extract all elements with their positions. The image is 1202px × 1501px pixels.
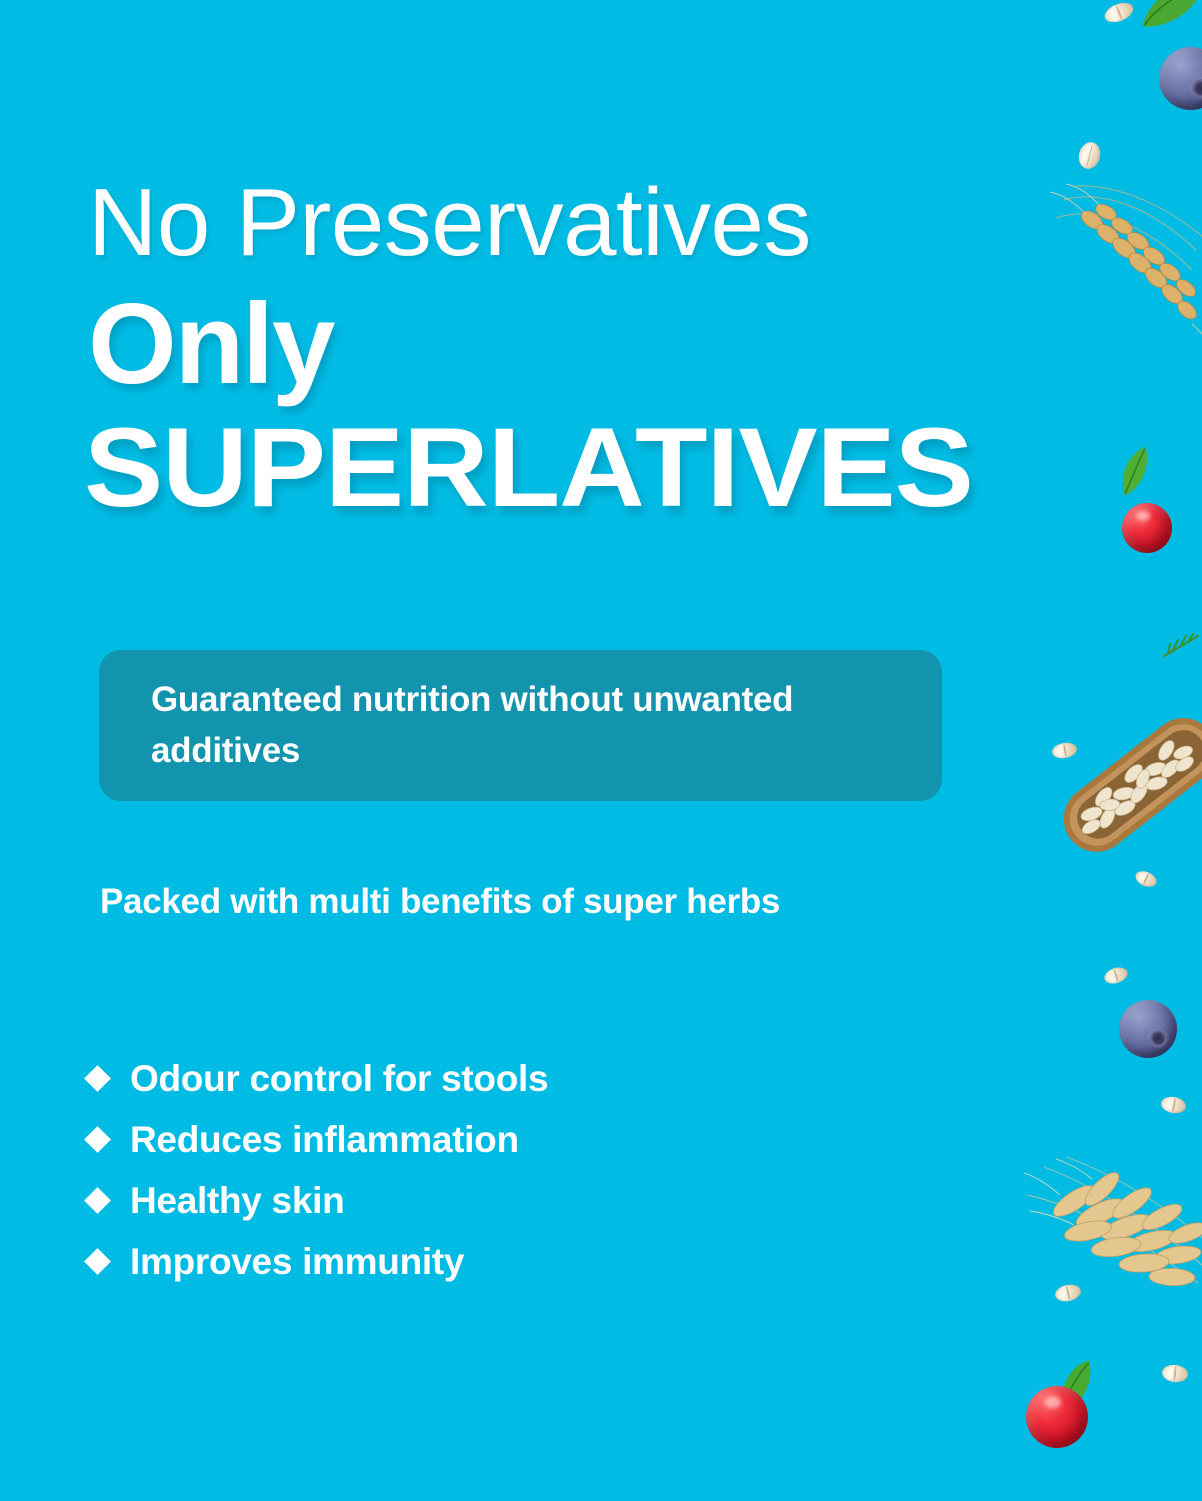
headline-superlatives: SUPERLATIVES (84, 412, 973, 524)
benefits-list: Odour control for stools Reduces inflamm… (88, 1048, 548, 1292)
list-item: Odour control for stools (88, 1048, 548, 1109)
headline-only: Only (88, 288, 333, 402)
poster-content: No Preservatives Only SUPERLATIVES Guara… (0, 0, 1202, 1501)
guarantee-callout-box: Guaranteed nutrition without unwanted ad… (99, 650, 942, 801)
benefits-subheading: Packed with multi benefits of super herb… (100, 876, 780, 929)
list-item-label: Improves immunity (130, 1243, 464, 1280)
list-item-label: Reduces inflammation (130, 1121, 519, 1158)
diamond-bullet-icon (84, 1065, 111, 1092)
promo-poster: No Preservatives Only SUPERLATIVES Guara… (0, 0, 1202, 1501)
diamond-bullet-icon (84, 1248, 111, 1275)
diamond-bullet-icon (84, 1126, 111, 1153)
list-item-label: Odour control for stools (130, 1060, 548, 1097)
list-item: Healthy skin (88, 1170, 548, 1231)
headline-kicker: No Preservatives (88, 175, 811, 271)
diamond-bullet-icon (84, 1187, 111, 1214)
list-item-label: Healthy skin (130, 1182, 344, 1219)
list-item: Reduces inflammation (88, 1109, 548, 1170)
list-item: Improves immunity (88, 1231, 548, 1292)
guarantee-callout-text: Guaranteed nutrition without unwanted ad… (151, 675, 841, 777)
